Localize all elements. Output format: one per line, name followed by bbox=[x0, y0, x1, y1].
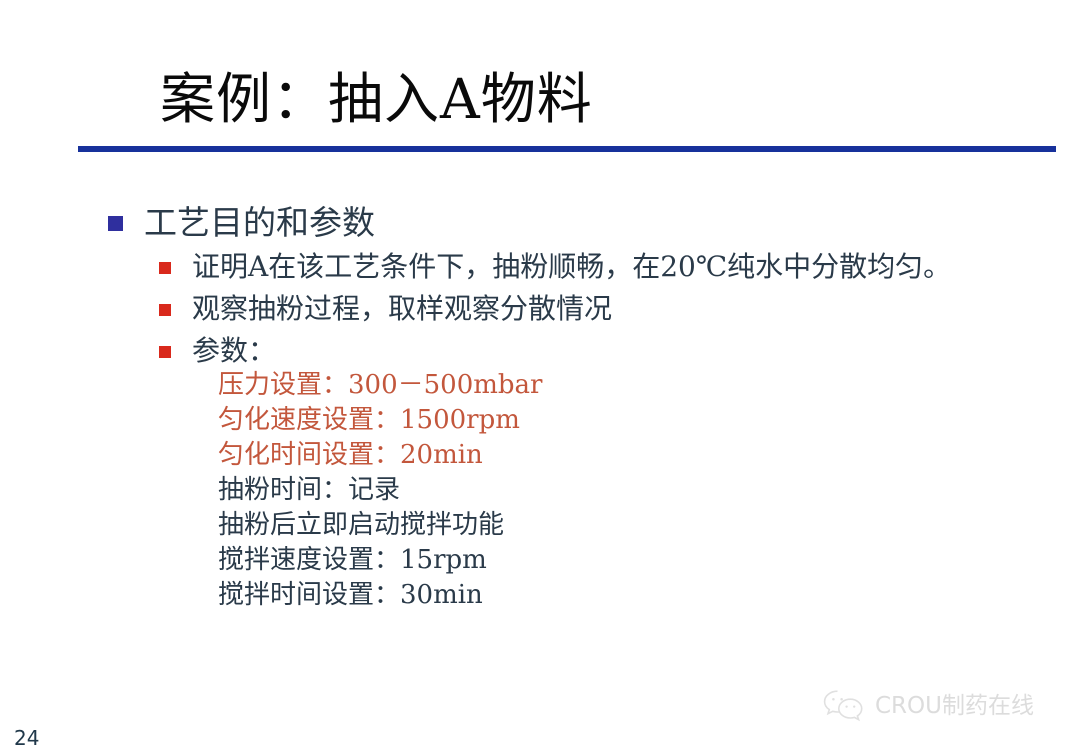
bullet-level2-label: 证明A在该工艺条件下，抽粉顺畅，在20℃纯水中分散均匀。 bbox=[192, 249, 951, 285]
slide-canvas: 案例：抽入A物料 工艺目的和参数 证明A在该工艺条件下，抽粉顺畅，在20℃纯水中… bbox=[0, 0, 1080, 756]
wechat-icon bbox=[822, 688, 866, 724]
slide-body: 工艺目的和参数 证明A在该工艺条件下，抽粉顺畅，在20℃纯水中分散均匀。 观察抽… bbox=[0, 0, 1080, 756]
parameter-line: 抽粉后立即启动搅拌功能 bbox=[218, 508, 542, 543]
bullet-level2-label: 参数： bbox=[192, 333, 276, 369]
bullet-level2-list: 证明A在该工艺条件下，抽粉顺畅，在20℃纯水中分散均匀。 观察抽粉过程，取样观察… bbox=[159, 249, 951, 375]
list-item: 参数： bbox=[159, 333, 951, 369]
parameter-line: 压力设置：300－500mbar bbox=[218, 368, 542, 403]
page-number: 24 bbox=[14, 726, 39, 750]
parameter-line: 搅拌时间设置：30min bbox=[218, 578, 542, 613]
list-item: 观察抽粉过程，取样观察分散情况 bbox=[159, 291, 951, 327]
parameter-line: 匀化速度设置：1500rpm bbox=[218, 403, 542, 438]
bullet-level1-process-purpose: 工艺目的和参数 bbox=[108, 203, 375, 243]
square-bullet-icon bbox=[159, 346, 171, 358]
watermark: CROU制药在线 bbox=[822, 688, 1034, 724]
square-bullet-icon bbox=[159, 262, 171, 274]
bullet-level1-label: 工艺目的和参数 bbox=[144, 203, 375, 243]
list-item: 证明A在该工艺条件下，抽粉顺畅，在20℃纯水中分散均匀。 bbox=[159, 249, 951, 285]
parameter-line: 匀化时间设置：20min bbox=[218, 438, 542, 473]
bullet-level2-label: 观察抽粉过程，取样观察分散情况 bbox=[192, 291, 612, 327]
parameter-line: 搅拌速度设置：15rpm bbox=[218, 543, 542, 578]
parameter-line: 抽粉时间：记录 bbox=[218, 473, 542, 508]
square-bullet-icon bbox=[159, 304, 171, 316]
watermark-label: CROU制药在线 bbox=[875, 691, 1034, 721]
parameter-list: 压力设置：300－500mbar 匀化速度设置：1500rpm 匀化时间设置：2… bbox=[218, 368, 542, 613]
square-bullet-icon bbox=[108, 216, 123, 231]
